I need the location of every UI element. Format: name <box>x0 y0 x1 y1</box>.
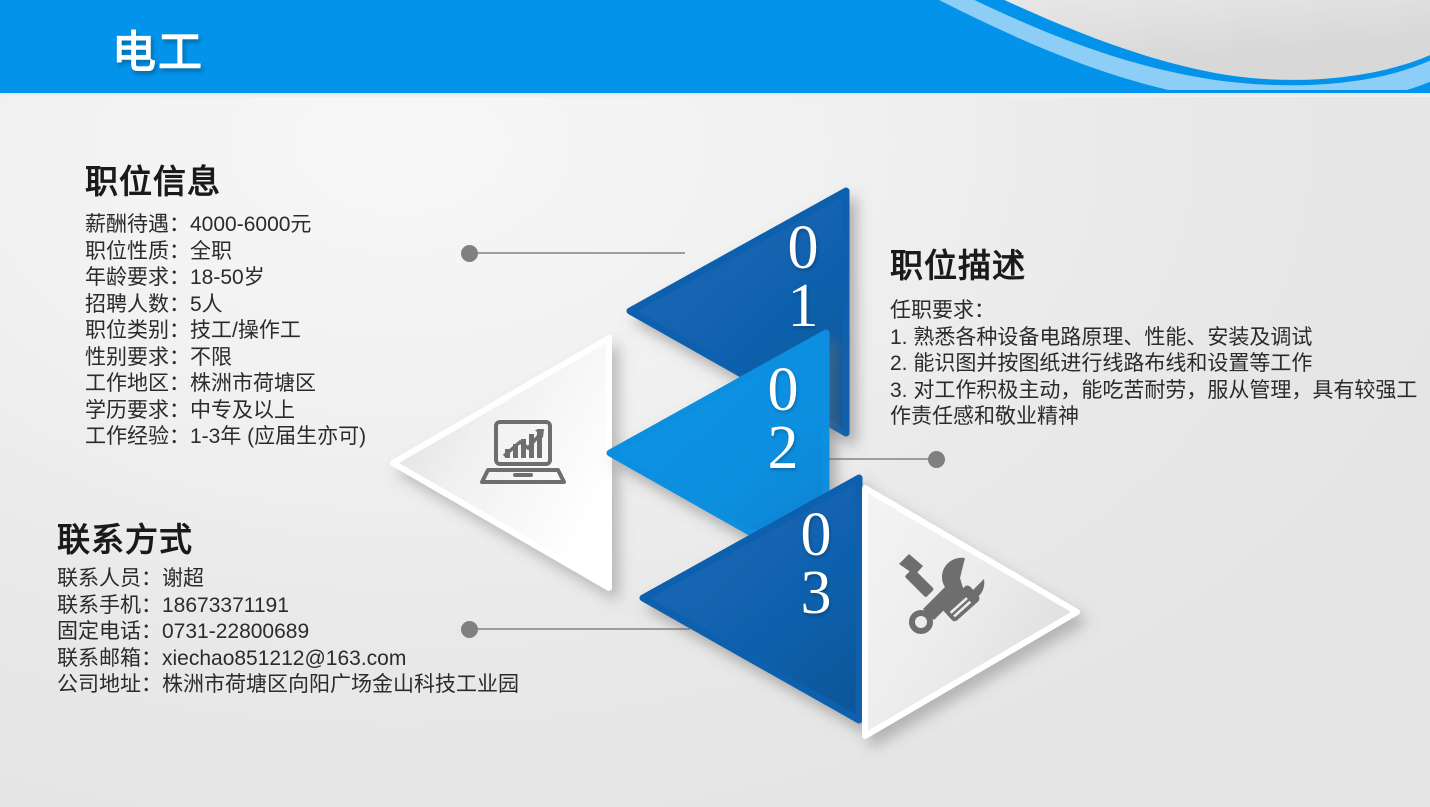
description-item: 2. 能识图并按图纸进行线路布线和设置等工作 <box>890 351 1430 378</box>
contact-item-email: 联系邮箱：xiechao851212@163.com <box>57 646 519 673</box>
triangle-digit: 2 <box>750 419 816 477</box>
triangle-number-02: 0 2 <box>750 361 816 477</box>
connector-dot-middle <box>928 451 945 468</box>
description-heading: 职位描述 <box>890 239 1026 287</box>
wrench-screwdriver-icon <box>893 550 985 642</box>
contact-item-address: 公司地址：株洲市荷塘区向阳广场金山科技工业园 <box>57 672 519 699</box>
job-info-item: 薪酬待遇：4000-6000元 <box>85 212 366 239</box>
triangle-digit: 3 <box>783 564 849 622</box>
job-info-item: 招聘人数：5人 <box>85 292 366 319</box>
job-info-item: 性别要求：不限 <box>85 345 366 372</box>
icon-triangle-tools[interactable] <box>855 478 1087 750</box>
connector-dot-top <box>461 245 478 262</box>
description-item: 任职要求： <box>890 298 1430 325</box>
job-info-item: 工作地区：株洲市荷塘区 <box>85 371 366 398</box>
slide-header: 电工 <box>0 0 1430 93</box>
icon-triangle-laptop[interactable] <box>385 328 615 598</box>
job-info-list: 薪酬待遇：4000-6000元 职位性质：全职 年龄要求：18-50岁 招聘人数… <box>85 212 366 451</box>
header-underline <box>0 93 1430 97</box>
slide: 电工 职位信息 薪酬待遇：4000-6000元 职位性质：全职 年龄要求：18-… <box>0 0 1430 807</box>
triangle-digit: 0 <box>770 219 836 277</box>
triangle-step-03[interactable]: 0 3 <box>633 470 873 728</box>
contact-heading: 联系方式 <box>57 513 193 561</box>
job-info-item: 学历要求：中专及以上 <box>85 398 366 425</box>
job-info-item: 工作经验：1-3年 (应届生亦可) <box>85 424 366 451</box>
triangle-digit: 0 <box>783 506 849 564</box>
page-title: 电工 <box>112 16 204 80</box>
description-item: 1. 熟悉各种设备电路原理、性能、安装及调试 <box>890 325 1430 352</box>
job-info-heading: 职位信息 <box>85 155 221 203</box>
triangle-digit: 0 <box>750 361 816 419</box>
job-info-item: 年龄要求：18-50岁 <box>85 265 366 292</box>
description-list: 任职要求： 1. 熟悉各种设备电路原理、性能、安装及调试 2. 能识图并按图纸进… <box>890 298 1430 431</box>
connector-line-middle <box>825 458 940 460</box>
triangle-number-01: 0 1 <box>770 219 836 335</box>
triangle-number-03: 0 3 <box>783 506 849 622</box>
job-info-item: 职位类别：技工/操作工 <box>85 318 366 345</box>
job-info-item: 职位性质：全职 <box>85 239 366 266</box>
connector-dot-bottom <box>461 621 478 638</box>
laptop-chart-icon <box>480 416 566 492</box>
description-item: 3. 对工作积极主动，能吃苦耐劳，服从管理，具有较强工作责任感和敬业精神 <box>890 378 1430 431</box>
contact-item: 固定电话：0731-22800689 <box>57 619 519 646</box>
header-swoosh-decoration <box>690 0 1430 90</box>
